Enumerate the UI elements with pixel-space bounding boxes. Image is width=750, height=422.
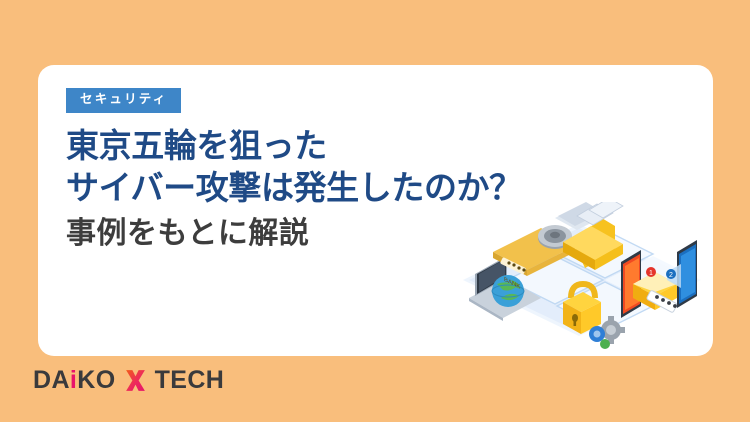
page-title-line-1: 東京五輪を狙った — [66, 125, 506, 167]
content-card: セキュリティ 東京五輪を狙った サイバー攻撃は発生したのか？ 事例をもとに解説 — [38, 65, 713, 356]
page-subtitle: 事例をもとに解説 — [66, 215, 506, 253]
brand-logo: DAiKO TECH — [33, 368, 224, 393]
text-block: セキュリティ 東京五輪を狙った サイバー攻撃は発生したのか？ 事例をもとに解説 — [66, 88, 506, 253]
page-title: 東京五輪を狙った サイバー攻撃は発生したのか？ — [66, 125, 506, 209]
category-badge: セキュリティ — [66, 88, 181, 113]
svg-text:1: 1 — [649, 270, 653, 277]
logo-x-icon — [123, 368, 148, 393]
page-title-line-2: サイバー攻撃は発生したのか？ — [66, 167, 506, 209]
logo-daiko: DAiKO — [33, 368, 116, 393]
logo-tech: TECH — [155, 368, 225, 393]
logo-text-part-two: KO — [77, 366, 115, 394]
banner-background: セキュリティ 東京五輪を狙った サイバー攻撃は発生したのか？ 事例をもとに解説 — [0, 0, 750, 422]
logo-text-part-one: DA — [33, 366, 70, 394]
svg-text:2: 2 — [669, 272, 673, 279]
